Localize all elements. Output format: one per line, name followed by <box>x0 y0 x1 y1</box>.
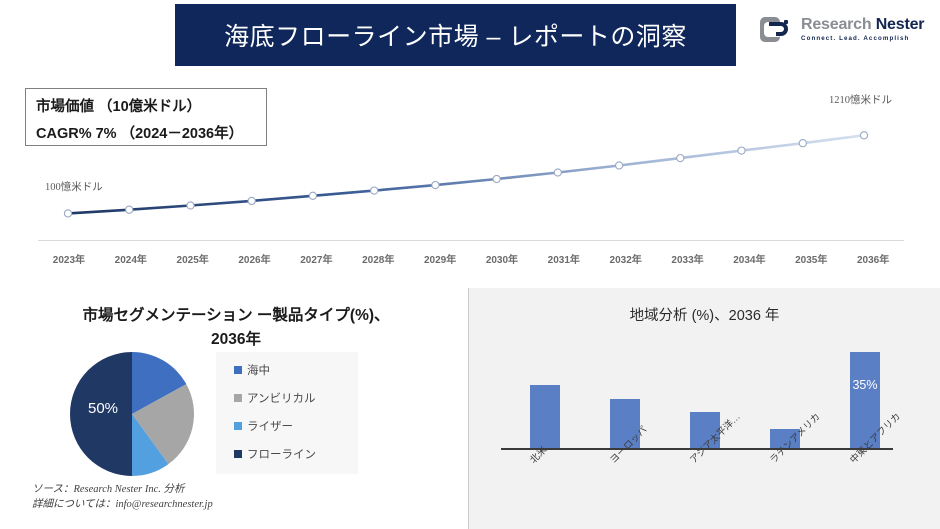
line-chart-axis <box>38 240 904 241</box>
regional-analysis-panel: 地域分析 (%)、2036 年 35% 北米ヨーロッパアジア太平洋…ラテンアメリ… <box>469 288 940 529</box>
year-tick-label: 2027年 <box>285 251 347 266</box>
line-chart-year-axis: 2023年2024年2025年2026年2027年2028年2029年2030年… <box>38 251 904 266</box>
logo-word-research: Research <box>801 16 871 33</box>
source-line2: 詳細については：info@researchnester.jp <box>32 497 213 512</box>
logo-mark-icon <box>760 16 794 44</box>
source-line1: ソース：Research Nester Inc. 分析 <box>32 482 213 497</box>
year-tick-label: 2034年 <box>718 251 780 266</box>
line-marker <box>677 155 684 162</box>
logo-wordmark: Research Nester <box>801 17 924 33</box>
segmentation-title: 市場セグメンテーション ー製品タイプ(%)、 2036年 <box>26 304 446 352</box>
infographic-page: 海底フローライン市場 – レポートの洞察 Research Nester Con… <box>0 0 940 529</box>
regional-bars: 35% <box>505 344 905 448</box>
logo-text: Research Nester Connect. Lead. Accomplis… <box>801 17 924 42</box>
bar-label-slot: アジア太平洋… <box>672 454 738 524</box>
bar <box>530 385 560 448</box>
year-tick-label: 2030年 <box>471 251 533 266</box>
line-marker <box>738 147 745 154</box>
bar-slot <box>512 344 578 448</box>
legend-item-label: ライザー <box>247 418 293 434</box>
line-marker <box>493 175 500 182</box>
research-nester-logo: Research Nester Connect. Lead. Accomplis… <box>760 16 924 44</box>
legend-swatch-icon <box>234 422 242 430</box>
legend-item: アンビリカル <box>234 390 358 406</box>
segmentation-pie-chart: 50% <box>58 350 206 478</box>
year-tick-label: 2026年 <box>224 251 286 266</box>
legend-swatch-icon <box>234 366 242 374</box>
pie-data-label: 50% <box>88 400 118 417</box>
legend-item-label: フローライン <box>247 446 316 462</box>
line-marker <box>554 169 561 176</box>
segmentation-panel: 市場セグメンテーション ー製品タイプ(%)、 2036年 50% 海中アンビリカ… <box>0 286 468 529</box>
line-marker <box>616 162 623 169</box>
year-tick-label: 2028年 <box>347 251 409 266</box>
line-marker <box>126 206 133 213</box>
year-tick-label: 2032年 <box>595 251 657 266</box>
line-marker <box>432 182 439 189</box>
legend-swatch-icon <box>234 450 242 458</box>
line-marker <box>248 197 255 204</box>
legend-item-label: アンビリカル <box>247 390 316 406</box>
line-marker <box>860 132 867 139</box>
bar-label-slot: ヨーロッパ <box>592 454 658 524</box>
year-tick-label: 2024年 <box>100 251 162 266</box>
pie-svg <box>58 350 206 478</box>
line-marker <box>309 192 316 199</box>
line-marker <box>799 140 806 147</box>
bar-value-label: 35% <box>850 378 880 392</box>
logo-word-nester: Nester <box>876 16 925 33</box>
source-note: ソース：Research Nester Inc. 分析 詳細については：info… <box>32 482 213 512</box>
segmentation-title-line2: 2036年 <box>211 331 261 348</box>
line-series <box>0 88 940 278</box>
bar-label-slot: 中東とアフリカ <box>832 454 898 524</box>
year-tick-label: 2035年 <box>780 251 842 266</box>
header-band: 海底フローライン市場 – レポートの洞察 <box>175 4 736 66</box>
regional-bar-labels: 北米ヨーロッパアジア太平洋…ラテンアメリカ中東とアフリカ <box>505 454 905 524</box>
page-title: 海底フローライン市場 – レポートの洞察 <box>224 17 687 53</box>
year-tick-label: 2029年 <box>409 251 471 266</box>
market-value-line-chart: 100憶米ドル 1210憶米ドル 2023年2024年2025年2026年202… <box>0 88 940 278</box>
regional-analysis-title: 地域分析 (%)、2036 年 <box>469 304 940 325</box>
pie-legend: 海中アンビリカルライザーフローライン <box>216 352 358 474</box>
legend-item-label: 海中 <box>247 362 270 378</box>
year-tick-label: 2023年 <box>38 251 100 266</box>
bar-label-slot: 北米 <box>512 454 578 524</box>
line-marker <box>371 187 378 194</box>
bar-label-slot: ラテンアメリカ <box>752 454 818 524</box>
year-tick-label: 2033年 <box>657 251 719 266</box>
year-tick-label: 2036年 <box>842 251 904 266</box>
year-tick-label: 2025年 <box>162 251 224 266</box>
legend-swatch-icon <box>234 394 242 402</box>
year-tick-label: 2031年 <box>533 251 595 266</box>
legend-item: ライザー <box>234 418 358 434</box>
segmentation-title-line1: 市場セグメンテーション ー製品タイプ(%)、 <box>82 307 389 324</box>
legend-item: フローライン <box>234 446 358 462</box>
line-marker <box>187 202 194 209</box>
legend-item: 海中 <box>234 362 358 378</box>
line-marker <box>64 210 71 217</box>
logo-tagline: Connect. Lead. Accomplish <box>801 36 924 42</box>
